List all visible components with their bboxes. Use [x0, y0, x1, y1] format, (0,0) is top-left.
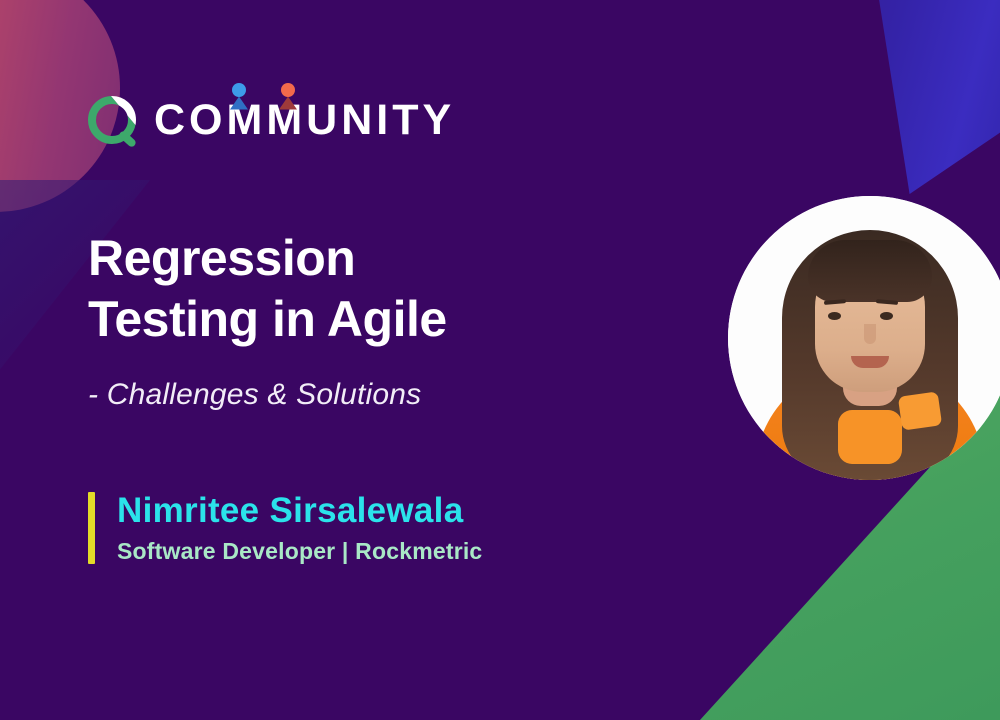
- speaker-block: Nimritee Sirsalewala Software Developer …: [88, 492, 482, 564]
- q-monogram-icon: [88, 96, 136, 144]
- person-blue-icon-head: [232, 83, 246, 97]
- speaker-photo: [728, 196, 1000, 480]
- person-orange-icon-head: [281, 83, 295, 97]
- portrait-bow: [898, 391, 942, 430]
- portrait-collar: [838, 410, 902, 464]
- webinar-banner: COMMUNITY Regression Testing in Agile - …: [0, 0, 1000, 720]
- speaker-role: Software Developer | Rockmetric: [117, 539, 482, 564]
- portrait-eye-left: [828, 312, 841, 320]
- portrait-nose: [864, 324, 876, 344]
- page-title: Regression Testing in Agile: [88, 228, 447, 350]
- page-subtitle: - Challenges & Solutions: [88, 378, 421, 412]
- brand-logo[interactable]: COMMUNITY: [88, 96, 455, 144]
- speaker-accent-bar: [88, 492, 95, 564]
- logo-wordmark: COMMUNITY: [154, 99, 455, 142]
- portrait-fringe: [808, 240, 932, 302]
- speaker-name: Nimritee Sirsalewala: [117, 492, 482, 531]
- speaker-details: Nimritee Sirsalewala Software Developer …: [117, 492, 482, 564]
- blue-triangle-decoration: [782, 0, 1000, 194]
- portrait-mouth: [851, 356, 889, 368]
- portrait-eye-right: [880, 312, 893, 320]
- logo-wordmark-text: COMMUNITY: [154, 96, 455, 144]
